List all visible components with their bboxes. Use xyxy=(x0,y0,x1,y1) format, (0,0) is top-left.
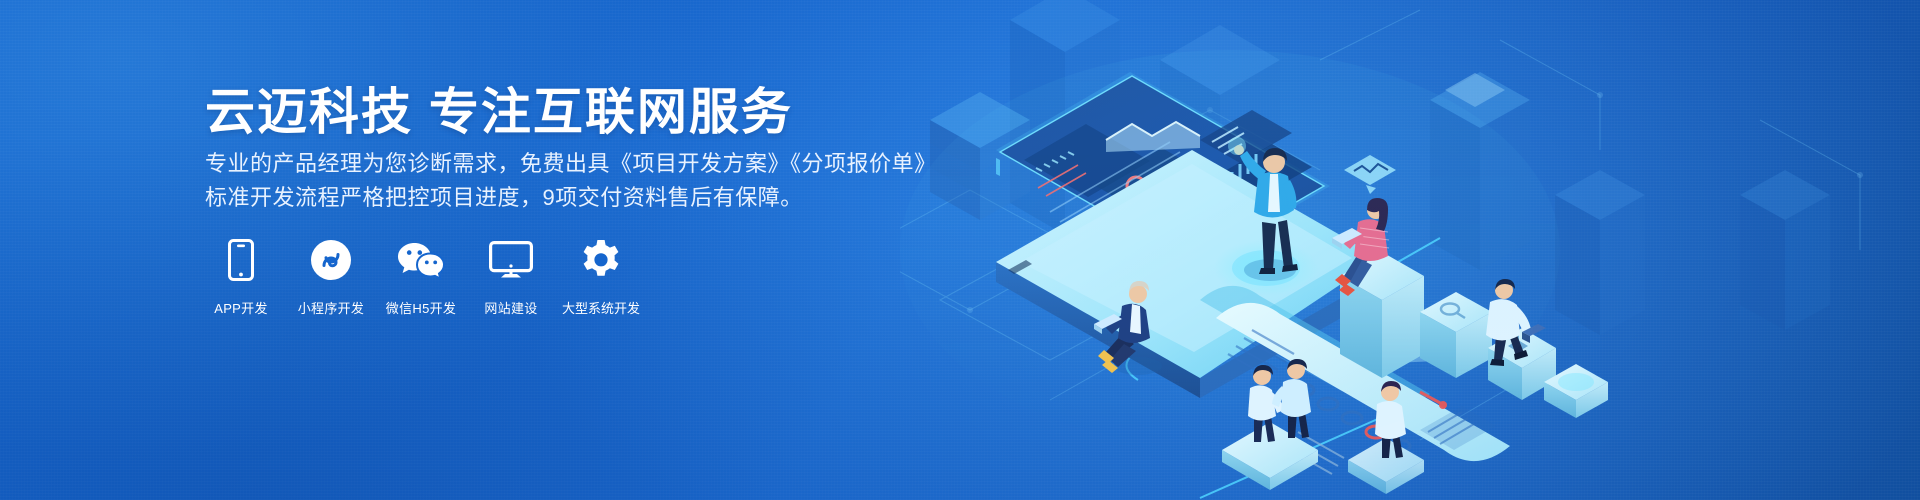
subtitle-line-1: 专业的产品经理为您诊断需求，免费出具《项目开发方案》《分项报价单》 xyxy=(205,146,937,178)
service-item-app[interactable]: APP开发 xyxy=(205,236,277,317)
service-label: 微信H5开发 xyxy=(386,298,456,317)
service-item-miniprogram[interactable]: 小程序开发 xyxy=(295,236,367,317)
service-item-wechat[interactable]: 微信H5开发 xyxy=(385,236,457,317)
monitor-icon xyxy=(489,236,533,284)
hero-illustration xyxy=(900,0,1920,500)
service-label: 大型系统开发 xyxy=(562,298,640,317)
page-title: 云迈科技 专注互联网服务 xyxy=(205,72,793,144)
service-label: 小程序开发 xyxy=(298,298,365,317)
service-label: APP开发 xyxy=(214,298,268,317)
subtitle-line-2: 标准开发流程严格把控项目进度，9项交付资料售后有保障。 xyxy=(205,180,803,212)
wechat-icon xyxy=(397,236,445,284)
service-item-website[interactable]: 网站建设 xyxy=(475,236,547,317)
service-label: 网站建设 xyxy=(484,298,537,317)
mini-program-icon xyxy=(310,236,352,284)
gear-icon xyxy=(580,236,622,284)
service-item-system[interactable]: 大型系统开发 xyxy=(565,236,637,317)
hero-content: 云迈科技 专注互联网服务 专业的产品经理为您诊断需求，免费出具《项目开发方案》《… xyxy=(205,0,965,500)
service-list: APP开发 小程序开发 xyxy=(205,236,637,317)
hero-banner: 云迈科技 专注互联网服务 专业的产品经理为您诊断需求，免费出具《项目开发方案》《… xyxy=(0,0,1920,500)
mobile-phone-icon xyxy=(228,236,254,284)
